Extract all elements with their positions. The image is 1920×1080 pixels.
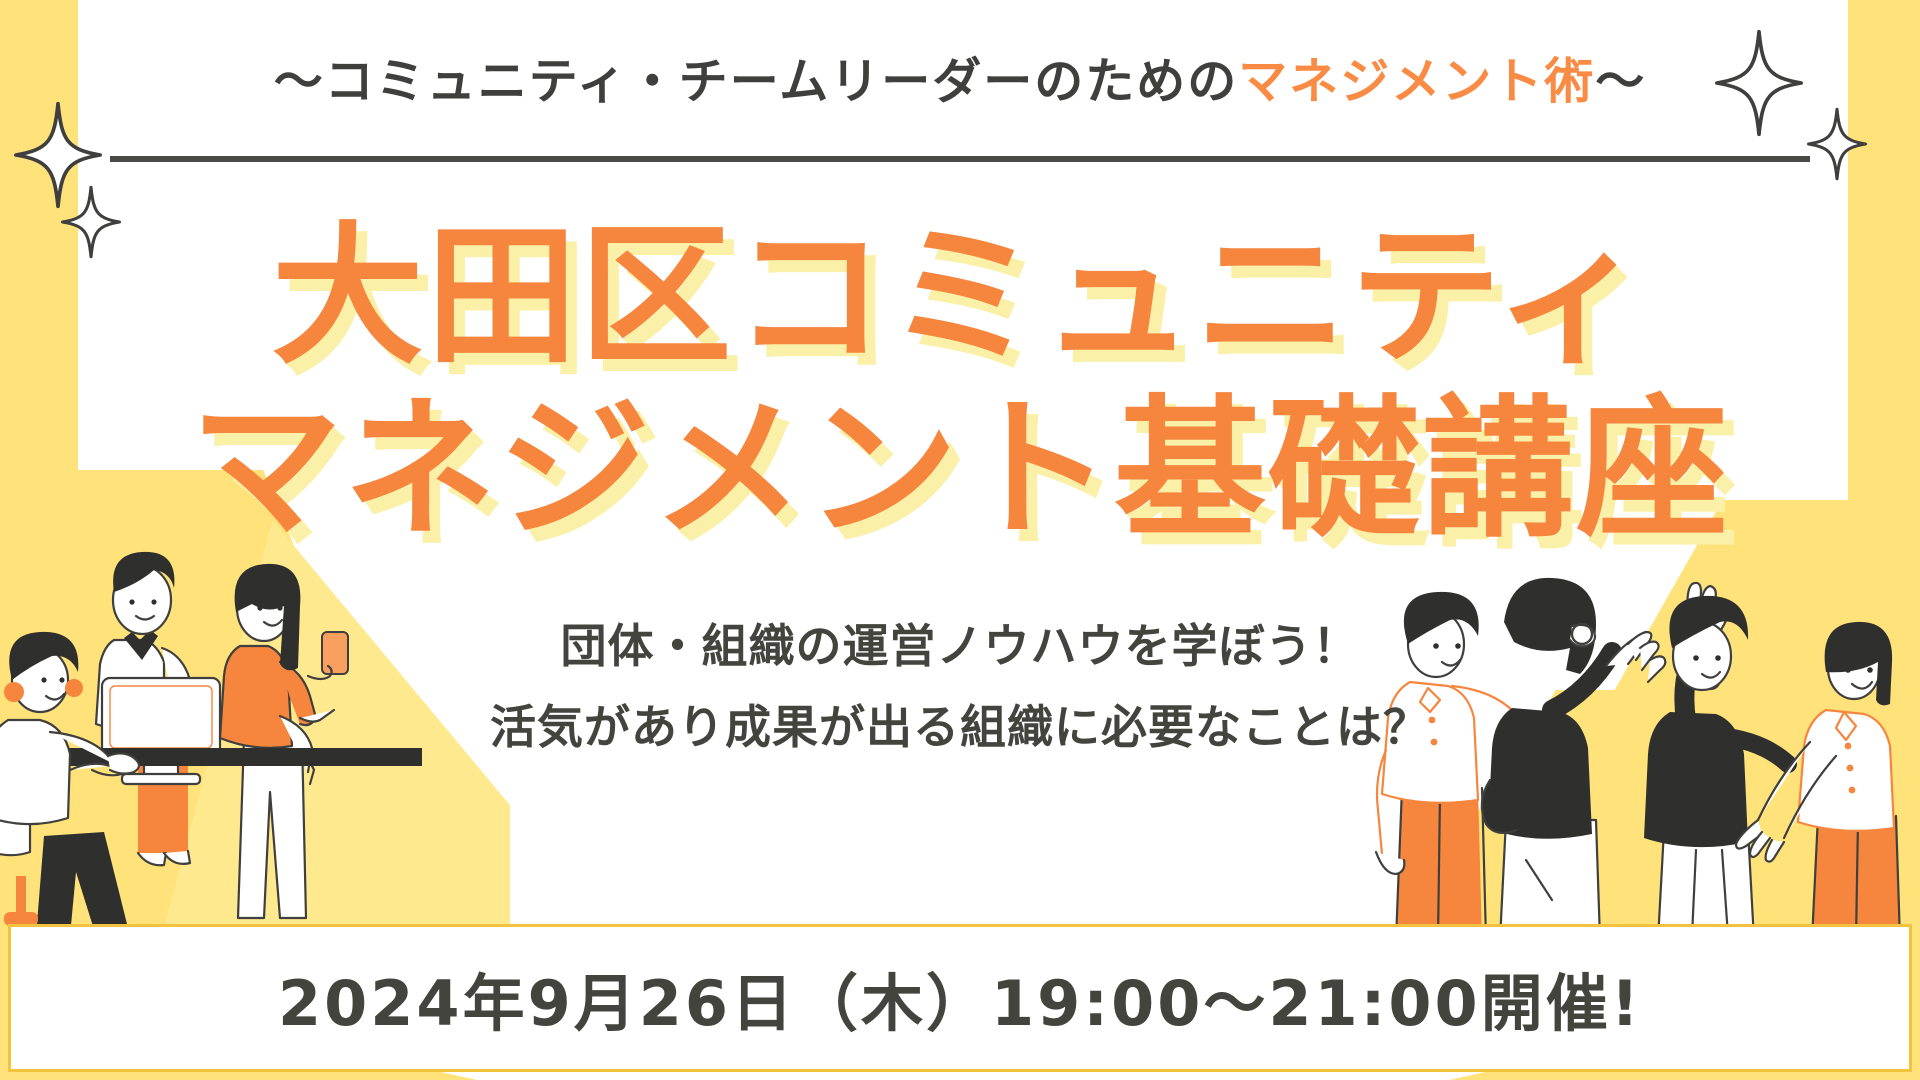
event-banner: 〜コミュニティ・チームリーダーのためのマネジメント術〜 大田区コミュニティ マネ…	[0, 0, 1920, 1080]
page-title: 大田区コミュニティ マネジメント基礎講座	[0, 210, 1920, 557]
subtitle-prefix: 〜コミュニティ・チームリーダーのための	[274, 53, 1239, 110]
subtitle-suffix: 〜	[1595, 53, 1646, 110]
title-line-1: 大田区コミュニティ	[0, 210, 1920, 383]
subtitle-highlight: マネジメント術	[1238, 53, 1595, 110]
event-date-time: 2024年9月26日（木）19:00〜21:00開催!	[278, 953, 1642, 1043]
sparkle-small-right-icon	[1806, 105, 1868, 183]
lead-copy: 団体・組織の運営ノウハウを学ぼう！ 活気があり成果が出る組織に必要なことは？	[0, 606, 1920, 767]
event-date-bar: 2024年9月26日（木）19:00〜21:00開催!	[8, 924, 1912, 1072]
title-line-2: マネジメント基礎講座	[0, 383, 1920, 556]
lead-line-2: 活気があり成果が出る組織に必要なことは？	[0, 687, 1920, 768]
header-divider	[110, 156, 1810, 162]
banner-subtitle: 〜コミュニティ・チームリーダーのためのマネジメント術〜	[0, 42, 1920, 113]
lead-line-1: 団体・組織の運営ノウハウを学ぼう！	[0, 606, 1920, 687]
